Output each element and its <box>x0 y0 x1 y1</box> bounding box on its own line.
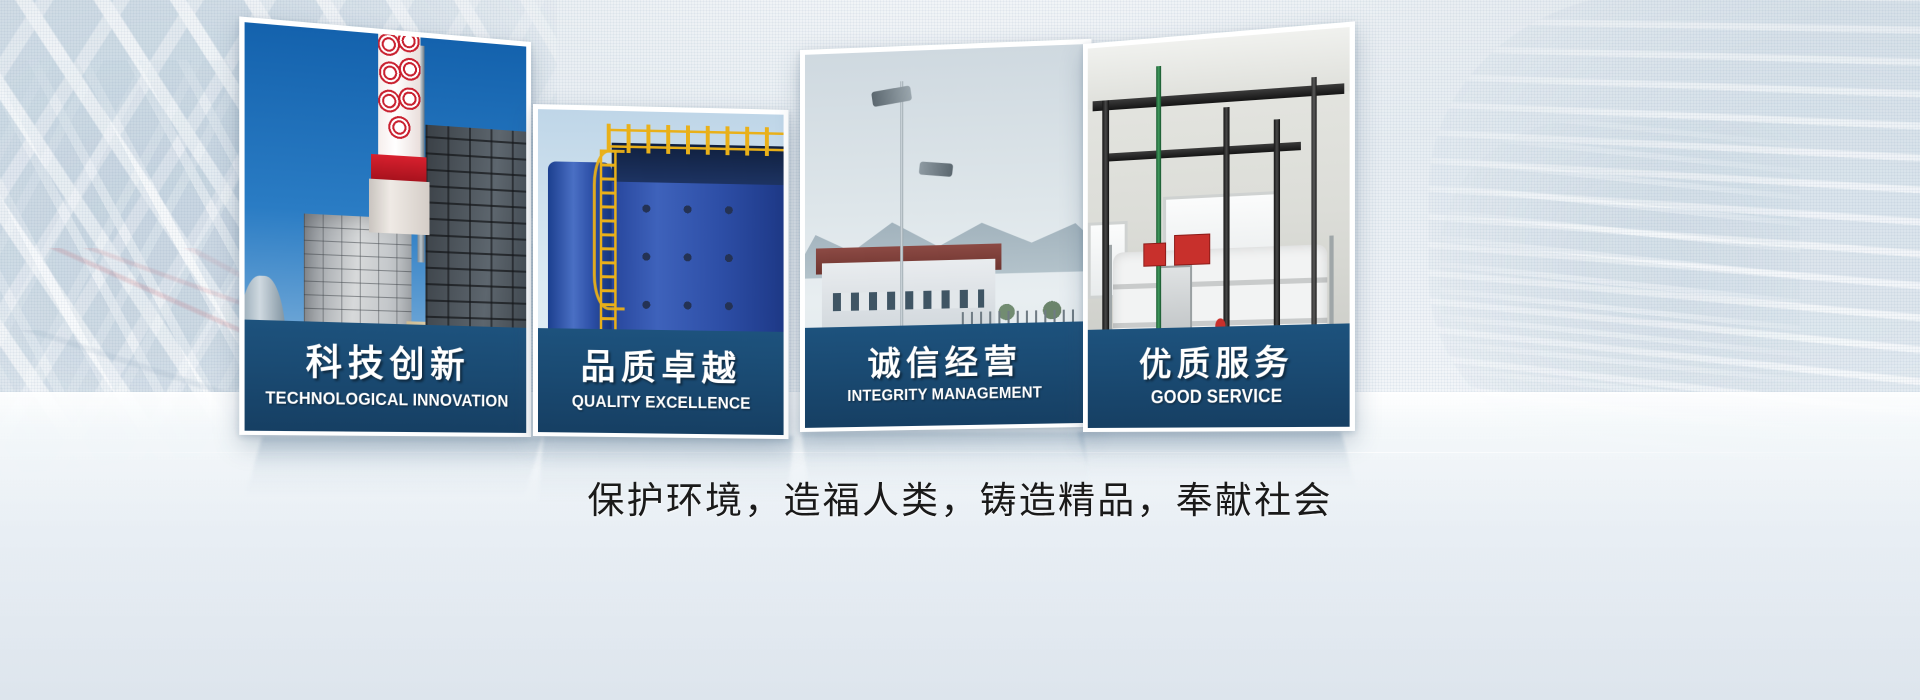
panel-title-cn-4: 优质服务 <box>1139 345 1294 383</box>
panel-caption-1: 科技创新 TECHNOLOGICAL INNOVATION <box>245 320 527 433</box>
banner-stage: 科技创新 TECHNOLOGICAL INNOVATION <box>0 0 1920 700</box>
panel-title-cn-3: 诚信经营 <box>867 344 1022 382</box>
panel-title-en-1: TECHNOLOGICAL INNOVATION <box>265 387 508 411</box>
panel-title-cn-1: 科技创新 <box>306 344 470 385</box>
panel-title-cn-2: 品质卓越 <box>581 350 742 389</box>
feature-panel-good-service[interactable]: 优质服务 GOOD SERVICE <box>1083 21 1355 432</box>
panel-title-en-2: QUALITY EXCELLENCE <box>572 392 751 414</box>
panel-title-en-4: GOOD SERVICE <box>1150 385 1281 408</box>
panel-title-en-3: INTEGRITY MANAGEMENT <box>848 384 1043 406</box>
panel-caption-2: 品质卓越 QUALITY EXCELLENCE <box>538 328 784 435</box>
feature-panel-quality-excellence[interactable]: 品质卓越 QUALITY EXCELLENCE <box>533 104 788 439</box>
banner-tagline: 保护环境，造福人类，铸造精品，奉献社会 <box>0 470 1920 524</box>
feature-panel-integrity-management[interactable]: 诚信经营 INTEGRITY MANAGEMENT <box>800 39 1091 432</box>
feature-panel-technological-innovation[interactable]: 科技创新 TECHNOLOGICAL INNOVATION <box>239 16 531 437</box>
panel-caption-3: 诚信经营 INTEGRITY MANAGEMENT <box>805 321 1086 428</box>
panel-caption-4: 优质服务 GOOD SERVICE <box>1088 323 1350 428</box>
feature-panel-group: 科技创新 TECHNOLOGICAL INNOVATION <box>0 0 1920 700</box>
